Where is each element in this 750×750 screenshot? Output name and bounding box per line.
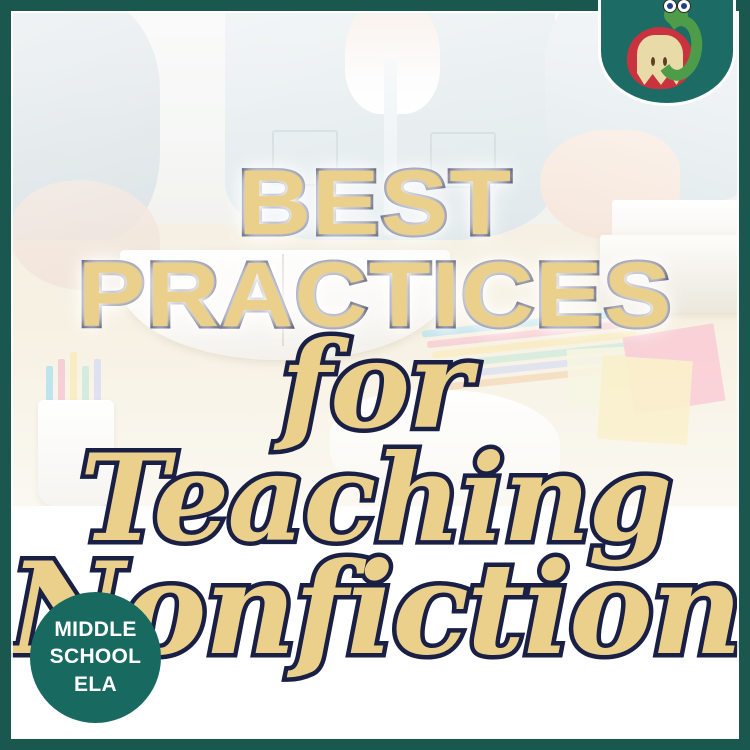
worm-eye-right-icon: [677, 0, 691, 13]
apple-seed-icon: [651, 57, 655, 66]
middle-school-ela-badge: MIDDLE SCHOOL ELA: [30, 592, 161, 723]
pinterest-graphic: BEST PRACTICES for Teaching Nonfiction M…: [0, 0, 750, 750]
subtitle-line-1: for Teaching: [0, 330, 750, 556]
headline-text: BEST PRACTICES: [0, 157, 750, 341]
badge-line-3: ELA: [74, 672, 117, 698]
bookworm-apple-logo-icon: [598, 0, 736, 106]
headline: BEST PRACTICES: [0, 157, 750, 341]
badge-line-2: SCHOOL: [50, 644, 142, 670]
logo-artwork: [601, 0, 733, 103]
badge-line-1: MIDDLE: [54, 617, 136, 643]
